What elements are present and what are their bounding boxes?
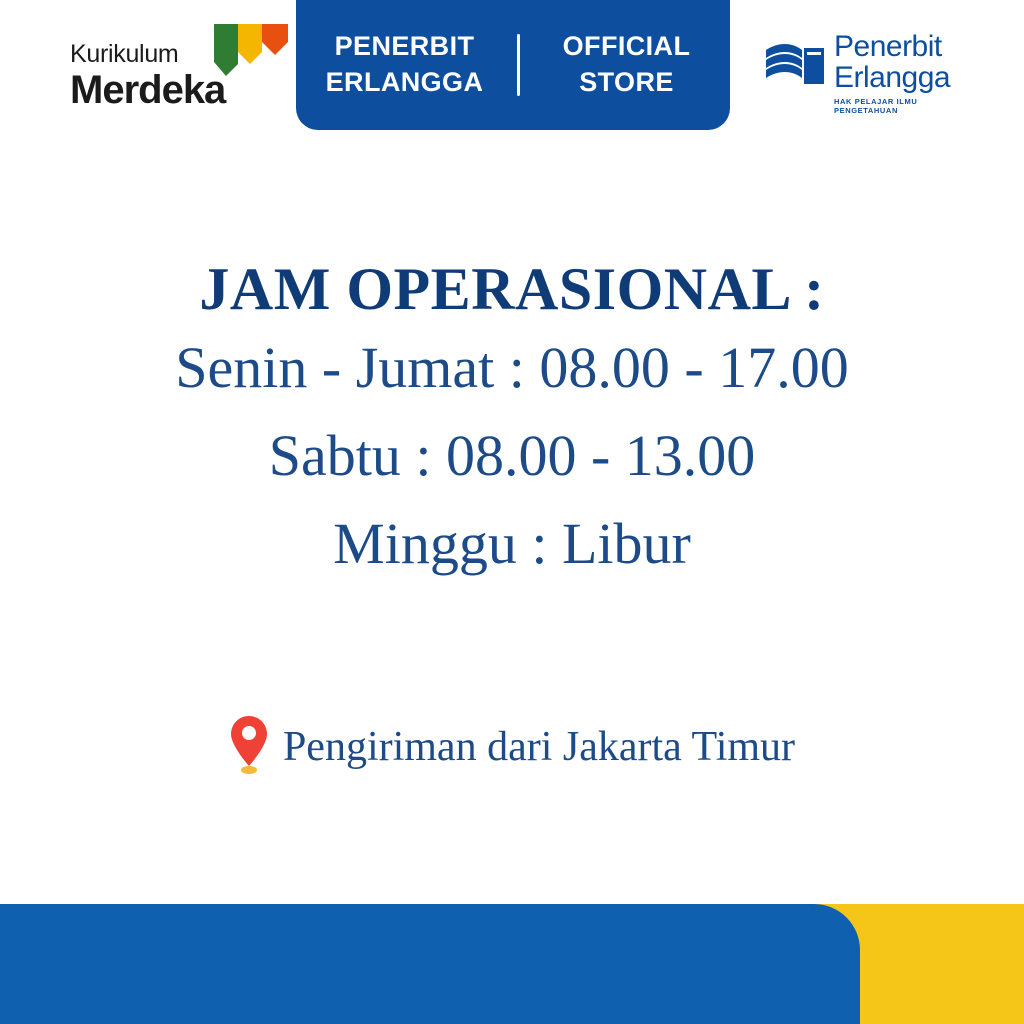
footer-blue-band [0,904,860,1024]
badge-store-line2: STORE [534,65,720,101]
kurikulum-merdeka-line1: Kurikulum [70,40,178,69]
penerbit-erlangga-line2: Erlangga [834,62,980,94]
badge-publisher-name: PENERBIT ERLANGGA [307,29,503,100]
stacked-books-icon [762,38,828,92]
badge-publisher-line1: PENERBIT [307,29,503,65]
official-store-badge: PENERBIT ERLANGGA OFFICIAL STORE [296,0,730,130]
badge-divider [517,34,520,96]
hours-line-weekday: Senin - Jumat : 08.00 - 17.00 [0,324,1024,412]
penerbit-erlangga-line1: Penerbit [834,32,980,62]
kurikulum-merdeka-logo: Kurikulum Merdeka [62,22,292,114]
penerbit-erlangga-wordmark: Penerbit Erlangga HAK PELAJAR ILMU PENGE… [834,32,980,115]
hours-line-sunday: Minggu : Libur [0,500,1024,588]
operating-hours-block: JAM OPERASIONAL : Senin - Jumat : 08.00 … [0,255,1024,588]
penerbit-erlangga-tagline: HAK PELAJAR ILMU PENGETAHUAN [834,97,980,115]
badge-publisher-line2: ERLANGGA [307,65,503,101]
location-pin-icon [229,714,269,776]
page-title: JAM OPERASIONAL : [0,255,1024,324]
shipping-origin: Pengiriman dari Jakarta Timur [0,716,1024,778]
badge-store-label: OFFICIAL STORE [534,29,720,100]
hours-line-saturday: Sabtu : 08.00 - 13.00 [0,412,1024,500]
page-header: Kurikulum Merdeka PENERBIT ERLANGGA OFFI… [0,0,1024,140]
merdeka-chevron-mark-icon [212,22,290,78]
kurikulum-merdeka-line2: Merdeka [70,68,225,113]
shipping-origin-label: Pengiriman dari Jakarta Timur [283,723,795,771]
badge-store-line1: OFFICIAL [534,29,720,65]
penerbit-erlangga-logo: Penerbit Erlangga HAK PELAJAR ILMU PENGE… [762,28,980,114]
